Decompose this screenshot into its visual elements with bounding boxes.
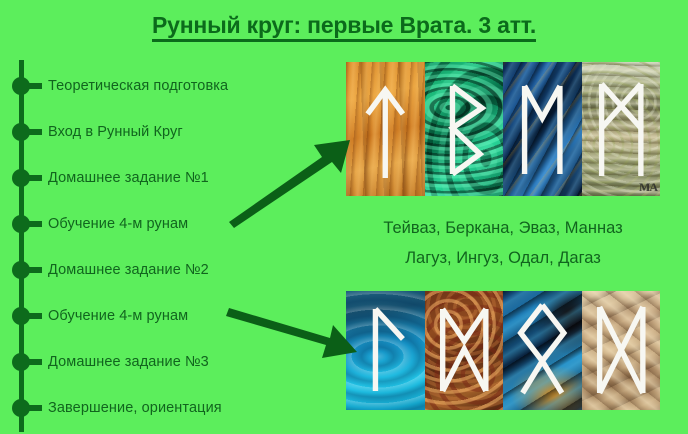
- rune-names-line-1: Тейваз, Беркана, Эваз, Манназ: [336, 219, 670, 238]
- watermark-label: MA: [639, 180, 657, 195]
- odal-rune-icon: [503, 291, 582, 410]
- rune-panel-bottom[interactable]: [346, 291, 660, 410]
- dagaz-rune-icon: [582, 291, 661, 410]
- rune-cell-dagaz[interactable]: [582, 291, 661, 410]
- slide-canvas: Рунный круг: первые Врата. 3 атт. Теорет…: [0, 0, 688, 434]
- timeline-tick-icon: [28, 83, 42, 89]
- teiwaz-rune-icon: [346, 62, 425, 196]
- timeline-tick-icon: [28, 129, 42, 135]
- timeline-item-label: Домашнее задание №3: [48, 354, 209, 370]
- timeline-tick-icon: [28, 175, 42, 181]
- timeline-item-label: Обучение 4-м рунам: [48, 308, 188, 324]
- page-title: Рунный круг: первые Врата. 3 атт.: [0, 12, 688, 39]
- rune-cell-laguz[interactable]: [346, 291, 425, 410]
- timeline-item-label: Домашнее задание №2: [48, 262, 209, 278]
- rune-cell-mannaz[interactable]: MA: [582, 62, 661, 196]
- timeline-item-label: Завершение, ориентация: [48, 400, 222, 416]
- rune-cell-berkana[interactable]: [425, 62, 504, 196]
- timeline-tick-icon: [28, 221, 42, 227]
- berkana-rune-icon: [425, 62, 504, 196]
- timeline-tick-icon: [28, 405, 42, 411]
- timeline-item-label: Обучение 4-м рунам: [48, 216, 188, 232]
- arrow-to-top-panel: [229, 140, 350, 228]
- timeline-item-label: Домашнее задание №1: [48, 170, 209, 186]
- inguz-rune-icon: [425, 291, 504, 410]
- rune-cell-ehwaz[interactable]: [503, 62, 582, 196]
- timeline-tick-icon: [28, 313, 42, 319]
- page-title-text: Рунный круг: первые Врата. 3 атт.: [152, 12, 536, 42]
- timeline-tick-icon: [28, 359, 42, 365]
- timeline-item-label: Теоретическая подготовка: [48, 78, 228, 94]
- rune-panel-top[interactable]: MA: [346, 62, 660, 196]
- laguz-rune-icon: [346, 291, 425, 410]
- timeline-item-label: Вход в Рунный Круг: [48, 124, 183, 140]
- rune-cell-inguz[interactable]: [425, 291, 504, 410]
- timeline-tick-icon: [28, 267, 42, 273]
- mannaz-rune-icon: [582, 62, 661, 196]
- timeline-axis: [19, 60, 24, 432]
- rune-cell-teiwaz[interactable]: [346, 62, 425, 196]
- rune-names-line-2: Лагуз, Ингуз, Одал, Дагаз: [336, 249, 670, 268]
- arrow-to-bottom-panel: [226, 308, 357, 358]
- ehwaz-rune-icon: [503, 62, 582, 196]
- rune-cell-odal[interactable]: [503, 291, 582, 410]
